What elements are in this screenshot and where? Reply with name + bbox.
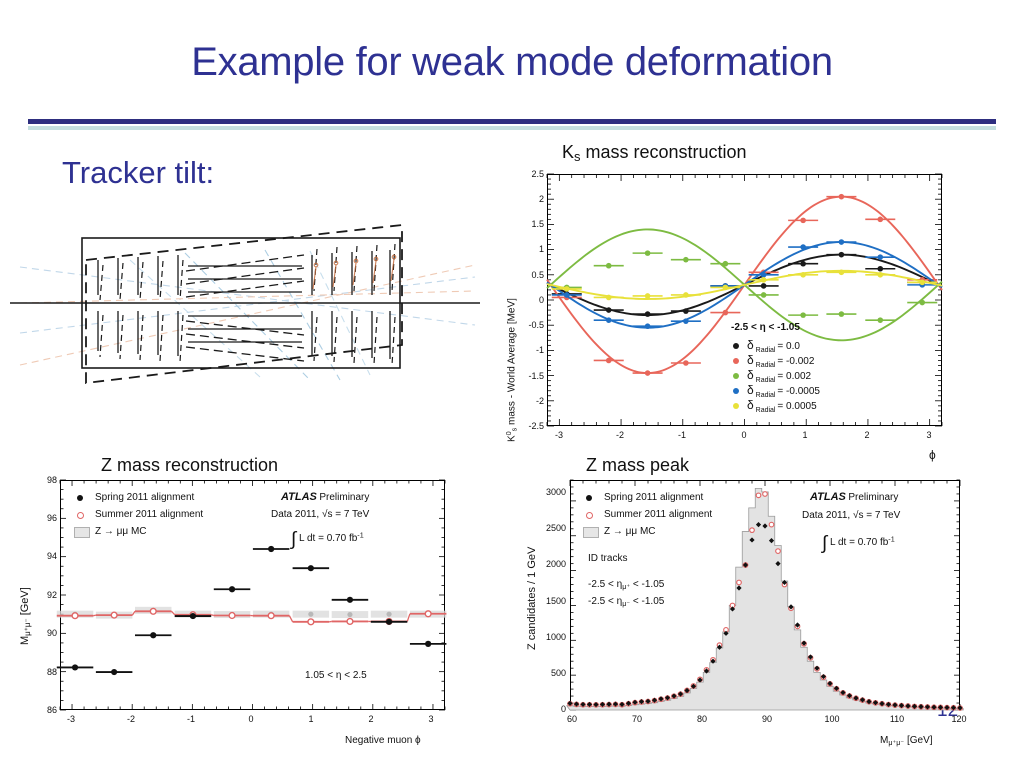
- zmass-luminosity: ∫ L dt = 0.70 fb-1: [291, 529, 364, 551]
- zmass-atlas-label: ATLAS Preliminary: [281, 491, 369, 503]
- z-mass-reconstruction-plot: Z mass reconstruction Mμ⁺μ⁻ [GeV] 98 96 …: [5, 455, 465, 765]
- zpeak-legend-item: Spring 2011 alignment: [582, 489, 712, 506]
- ks-legend-label: δ Radial = -0.002: [747, 356, 814, 367]
- ks-plot-title: Ks mass reconstruction: [562, 142, 747, 164]
- zmass-legend-label: Summer 2011 alignment: [95, 509, 203, 520]
- zpeak-legend-label: Z → μμ MC: [604, 526, 656, 537]
- zmass-legend-label: Spring 2011 alignment: [95, 492, 194, 503]
- ks-legend-item: δ Radial = -0.0005: [731, 383, 820, 398]
- ks-legend-item: δ Radial = 0.0: [731, 338, 820, 353]
- legend-marker-dot: [733, 388, 739, 394]
- ks-legend-item: δ Radial = -0.002: [731, 353, 820, 368]
- zpeak-eta-plus: -2.5 < ημ⁺ < -1.05: [588, 579, 664, 591]
- legend-marker-dot: [733, 373, 739, 379]
- zpeak-luminosity: ∫ L dt = 0.70 fb-1: [822, 533, 895, 555]
- legend-marker-hatched-box: [583, 527, 599, 538]
- legend-marker-open-circle: [77, 512, 84, 519]
- header-divider-dark: [28, 119, 996, 124]
- legend-marker-dot: [733, 358, 739, 364]
- legend-marker-open-circle: [586, 512, 593, 519]
- zmass-legend-label: Z → μμ MC: [95, 526, 147, 537]
- ks-legend-label: δ Radial = -0.0005: [747, 386, 820, 397]
- zmass-legend-item: Z → μμ MC: [73, 523, 203, 540]
- zmass-legend: Spring 2011 alignmentSummer 2011 alignme…: [73, 489, 203, 540]
- zpeak-atlas-label: ATLAS Preliminary: [810, 491, 898, 503]
- zpeak-legend: Spring 2011 alignmentSummer 2011 alignme…: [582, 489, 712, 540]
- page-title: Example for weak mode deformation: [0, 40, 1024, 85]
- zpeak-plot-title: Z mass peak: [586, 455, 689, 476]
- ks-legend-item: δ Radial = 0.002: [731, 368, 820, 383]
- zpeak-legend-item: Z → μμ MC: [582, 523, 712, 540]
- ks-legend: δ Radial = 0.0δ Radial = -0.002δ Radial …: [731, 338, 820, 413]
- legend-marker-filled-circle: [586, 495, 592, 501]
- zpeak-eta-minus: -2.5 < ημ⁻ < -1.05: [588, 596, 664, 608]
- ks-mass-plot: Ks mass reconstruction K0s mass - World …: [492, 142, 960, 472]
- zmass-x-axis-label: Negative muon ϕ: [345, 735, 421, 746]
- zpeak-id-tracks: ID tracks: [588, 553, 627, 564]
- legend-marker-hatched-box: [74, 527, 90, 538]
- zmass-legend-item: Summer 2011 alignment: [73, 506, 203, 523]
- zpeak-legend-label: Spring 2011 alignment: [604, 492, 703, 503]
- zmass-plot-title: Z mass reconstruction: [101, 455, 278, 476]
- ks-title-rest: mass reconstruction: [581, 142, 747, 162]
- z-mass-peak-plot: Z mass peak Z candidates / 1 GeV 3000 25…: [510, 455, 980, 765]
- header-divider-light: [28, 126, 996, 130]
- ks-legend-label: δ Radial = 0.0: [747, 341, 800, 352]
- ks-title-k: K: [562, 142, 574, 162]
- legend-marker-dot: [733, 343, 739, 349]
- zpeak-x-axis-label: Mμ⁺μ⁻ [GeV]: [880, 735, 933, 747]
- legend-marker-filled-circle: [77, 495, 83, 501]
- legend-marker-dot: [733, 403, 739, 409]
- ks-legend-label: δ Radial = 0.0005: [747, 401, 817, 412]
- zmass-data-line: Data 2011, √s = 7 TeV: [271, 509, 369, 520]
- zpeak-legend-item: Summer 2011 alignment: [582, 506, 712, 523]
- zmass-legend-item: Spring 2011 alignment: [73, 489, 203, 506]
- zpeak-legend-label: Summer 2011 alignment: [604, 509, 712, 520]
- zpeak-data-line: Data 2011, √s = 7 TeV: [802, 510, 900, 521]
- ks-eta-range: -2.5 < η < -1.05: [731, 322, 800, 333]
- ks-legend-label: δ Radial = 0.002: [747, 371, 811, 382]
- tracker-tilt-diagram: [10, 205, 480, 405]
- zmass-eta-range: 1.05 < η < 2.5: [305, 670, 367, 681]
- ks-legend-item: δ Radial = 0.0005: [731, 398, 820, 413]
- tracker-tilt-label: Tracker tilt:: [62, 155, 214, 191]
